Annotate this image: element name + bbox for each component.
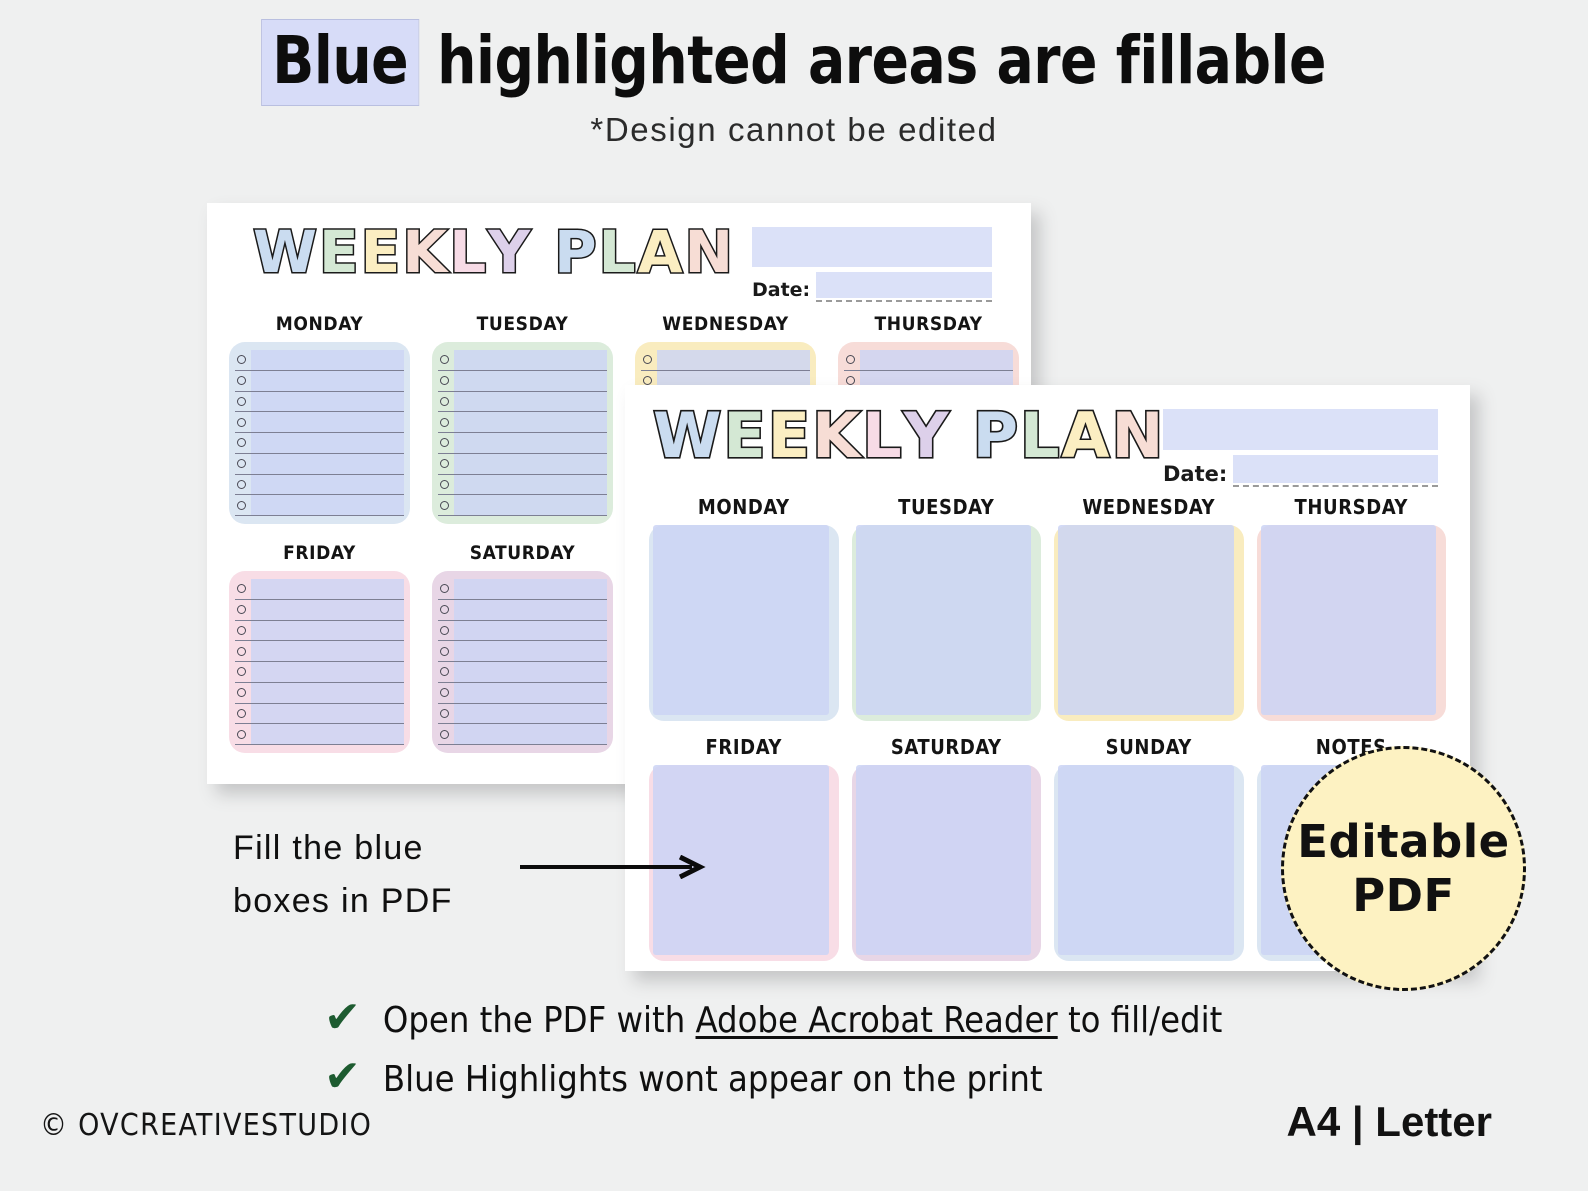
task-fill-box[interactable] [251, 704, 404, 724]
checkbox-circle-icon[interactable] [440, 647, 449, 656]
checkbox-circle-icon[interactable] [440, 584, 449, 593]
task-fill-box[interactable] [251, 683, 404, 703]
task-fill-box[interactable] [251, 454, 404, 474]
day-column-saturday: SATURDAY [432, 542, 613, 753]
annotation-line-2: boxes in PDF [233, 875, 563, 928]
task-fill-box[interactable] [251, 662, 404, 682]
paper-size-label: A4 | Letter [1287, 1098, 1492, 1146]
task-line [438, 495, 607, 516]
task-fill-box[interactable] [251, 621, 404, 641]
checkbox-circle-icon[interactable] [440, 626, 449, 635]
title-letter-l-7: L [1020, 407, 1062, 466]
check-icon: ✔ [324, 1055, 361, 1099]
annotation-arrow-icon [520, 855, 710, 879]
task-line [438, 475, 607, 496]
title-space [532, 225, 554, 280]
title-letter-k-3: K [402, 225, 449, 280]
weekly-plan-title-front: WEEKLY PLAN [653, 407, 1165, 466]
task-line [235, 641, 404, 662]
checkbox-circle-icon[interactable] [643, 355, 652, 364]
task-fill-box[interactable] [454, 350, 607, 370]
title-letter-w-0: W [253, 225, 319, 280]
date-fill-box[interactable] [816, 272, 992, 298]
title-letter-a-8: A [1062, 407, 1112, 466]
task-fill-box[interactable] [454, 724, 607, 744]
task-line [235, 495, 404, 516]
task-fill-box[interactable] [454, 433, 607, 453]
checkbox-circle-icon[interactable] [237, 376, 246, 385]
task-line [438, 350, 607, 371]
day-fill-box-wednesday[interactable] [1058, 525, 1234, 715]
title-letter-l-4: L [862, 407, 904, 466]
task-fill-box[interactable] [454, 454, 607, 474]
weekly-plan-title-back: WEEKLY PLAN [253, 225, 735, 280]
checkbox-circle-icon[interactable] [237, 438, 246, 447]
title-letter-p-6: P [973, 407, 1020, 466]
day-label-saturday: SATURDAY [432, 542, 613, 564]
day-pad-saturday [852, 765, 1042, 961]
day-label-tuesday: TUESDAY [852, 495, 1042, 519]
day-pad-tuesday [432, 342, 613, 524]
day-pad-sunday [1054, 765, 1244, 961]
checkbox-circle-icon[interactable] [440, 480, 449, 489]
checkbox-circle-icon[interactable] [237, 501, 246, 510]
checkbox-circle-icon[interactable] [237, 459, 246, 468]
title-letter-w-0: W [653, 407, 723, 466]
checklist-item: ✔Open the PDF with Adobe Acrobat Reader … [324, 996, 1222, 1041]
day-fill-box-sunday[interactable] [1058, 765, 1234, 955]
task-line [438, 683, 607, 704]
title-letter-l-4: L [449, 225, 488, 280]
title-letter-e-2: E [361, 225, 403, 280]
checkbox-circle-icon[interactable] [440, 397, 449, 406]
task-line [235, 600, 404, 621]
checkbox-circle-icon[interactable] [440, 667, 449, 676]
day-column-friday: FRIDAY [649, 735, 839, 961]
task-line [235, 433, 404, 454]
checkbox-circle-icon[interactable] [846, 355, 855, 364]
task-fill-box[interactable] [454, 579, 607, 599]
task-fill-box[interactable] [251, 350, 404, 370]
task-line [438, 433, 607, 454]
day-column-wednesday: WEDNESDAY [1054, 495, 1244, 721]
task-fill-box[interactable] [657, 350, 810, 370]
task-line [438, 704, 607, 725]
day-column-monday: MONDAY [649, 495, 839, 721]
day-column-tuesday: TUESDAY [852, 495, 1042, 721]
date-label: Date: [1163, 464, 1227, 487]
checkbox-circle-icon[interactable] [237, 584, 246, 593]
checkbox-circle-icon[interactable] [440, 438, 449, 447]
copyright-notice: © OVCREATIVESTUDIO [40, 1108, 372, 1143]
task-line [438, 412, 607, 433]
title-letter-e-1: E [723, 407, 767, 466]
checkbox-circle-icon[interactable] [846, 376, 855, 385]
task-fill-box[interactable] [454, 641, 607, 661]
title-fill-box[interactable] [752, 227, 992, 267]
date-dashed-rule [816, 300, 992, 302]
task-line [235, 392, 404, 413]
task-fill-box[interactable] [251, 579, 404, 599]
checkbox-circle-icon[interactable] [237, 418, 246, 427]
day-label-sunday: SUNDAY [1054, 735, 1244, 759]
day-label-monday: MONDAY [649, 495, 839, 519]
task-fill-box[interactable] [251, 641, 404, 661]
checkbox-circle-icon[interactable] [440, 605, 449, 614]
task-fill-box[interactable] [251, 433, 404, 453]
badge-line-1: Editable [1297, 815, 1509, 868]
highlight-word: Blue [262, 20, 418, 105]
page-title: Blue highlighted areas are fillable [56, 22, 1533, 99]
day-label-tuesday: TUESDAY [432, 313, 613, 335]
title-letter-k-3: K [812, 407, 862, 466]
day-label-thursday: THURSDAY [838, 313, 1019, 335]
checkbox-circle-icon[interactable] [440, 501, 449, 510]
day-column-saturday: SATURDAY [852, 735, 1042, 961]
date-block-back: Date: [752, 227, 992, 302]
day-column-friday: FRIDAY [229, 542, 410, 753]
checkbox-circle-icon[interactable] [237, 626, 246, 635]
page-title-rest: highlighted areas are fillable [437, 22, 1326, 99]
task-line [438, 724, 607, 745]
line-stack [235, 579, 404, 745]
checklist-item: ✔Blue Highlights wont appear on the prin… [324, 1055, 1222, 1100]
task-fill-box[interactable] [251, 495, 404, 515]
title-letter-n-9: N [1112, 407, 1166, 466]
day-label-saturday: SATURDAY [852, 735, 1042, 759]
day-pad-friday [229, 571, 410, 753]
day-label-monday: MONDAY [229, 313, 410, 335]
date-block-front: Date: [1163, 409, 1438, 487]
task-line [438, 662, 607, 683]
checkbox-circle-icon[interactable] [237, 647, 246, 656]
checklist-text: Open the PDF with Adobe Acrobat Reader t… [383, 1000, 1222, 1041]
task-fill-box[interactable] [251, 475, 404, 495]
annotation-line-1: Fill the blue [233, 822, 563, 875]
task-fill-box[interactable] [454, 600, 607, 620]
line-stack [438, 579, 607, 745]
task-fill-box[interactable] [251, 392, 404, 412]
checkbox-circle-icon[interactable] [237, 397, 246, 406]
day-fill-box-monday[interactable] [653, 525, 829, 715]
task-line [235, 621, 404, 642]
annotation-text: Fill the blue boxes in PDF [233, 822, 563, 927]
task-fill-box[interactable] [251, 412, 404, 432]
day-column-tuesday: TUESDAY [432, 313, 613, 524]
checkbox-circle-icon[interactable] [237, 605, 246, 614]
task-fill-box[interactable] [454, 495, 607, 515]
title-space [951, 407, 973, 466]
day-pad-thursday [1257, 525, 1447, 721]
task-fill-box[interactable] [454, 704, 607, 724]
title-letter-e-2: E [768, 407, 812, 466]
task-fill-box[interactable] [454, 662, 607, 682]
day-label-thursday: THURSDAY [1257, 495, 1447, 519]
task-line [438, 641, 607, 662]
task-line [235, 704, 404, 725]
editable-pdf-badge: Editable PDF [1281, 746, 1526, 991]
title-letter-p-6: P [554, 225, 599, 280]
checkbox-circle-icon[interactable] [643, 376, 652, 385]
day-pad-tuesday [852, 525, 1042, 721]
task-line [235, 724, 404, 745]
checkbox-circle-icon[interactable] [237, 730, 246, 739]
checkbox-circle-icon[interactable] [237, 355, 246, 364]
day-pad-wednesday [1054, 525, 1244, 721]
task-fill-box[interactable] [454, 412, 607, 432]
day-label-wednesday: WEDNESDAY [635, 313, 816, 335]
task-line [235, 475, 404, 496]
day-column-sunday: SUNDAY [1054, 735, 1244, 961]
header: Blue highlighted areas are fillable *Des… [0, 0, 1588, 149]
task-line [438, 454, 607, 475]
checklist-text: Blue Highlights wont appear on the print [383, 1059, 1043, 1100]
checkbox-circle-icon[interactable] [237, 667, 246, 676]
checkbox-circle-icon[interactable] [440, 355, 449, 364]
day-column-thursday: THURSDAY [1257, 495, 1447, 721]
title-letter-y-5: Y [488, 225, 532, 280]
acrobat-reader-link[interactable]: Adobe Acrobat Reader [696, 1000, 1058, 1041]
day-fill-box-tuesday[interactable] [856, 525, 1032, 715]
line-stack [235, 350, 404, 516]
task-line [438, 371, 607, 392]
task-fill-box[interactable] [454, 371, 607, 391]
date-fill-box[interactable] [1233, 455, 1438, 483]
task-fill-box[interactable] [454, 683, 607, 703]
day-fill-box-saturday[interactable] [856, 765, 1032, 955]
title-fill-box[interactable] [1163, 409, 1438, 450]
day-pad-monday [649, 525, 839, 721]
task-fill-box[interactable] [860, 350, 1013, 370]
task-line [844, 350, 1013, 371]
checkbox-circle-icon[interactable] [440, 709, 449, 718]
task-fill-box[interactable] [454, 621, 607, 641]
task-fill-box[interactable] [251, 600, 404, 620]
task-fill-box[interactable] [251, 371, 404, 391]
title-letter-a-8: A [638, 225, 685, 280]
checkbox-circle-icon[interactable] [440, 730, 449, 739]
task-line [235, 350, 404, 371]
task-line [235, 579, 404, 600]
day-label-friday: FRIDAY [229, 542, 410, 564]
task-line [235, 662, 404, 683]
day-pad-monday [229, 342, 410, 524]
checkbox-circle-icon[interactable] [237, 480, 246, 489]
line-stack [438, 350, 607, 516]
footer-checklist: ✔Open the PDF with Adobe Acrobat Reader … [324, 996, 1222, 1114]
title-letter-y-5: Y [904, 407, 951, 466]
day-pad-saturday [432, 571, 613, 753]
page-subtitle: *Design cannot be edited [0, 111, 1588, 149]
task-fill-box[interactable] [454, 475, 607, 495]
checkbox-circle-icon[interactable] [440, 376, 449, 385]
day-fill-box-thursday[interactable] [1261, 525, 1437, 715]
task-line [235, 454, 404, 475]
checkbox-circle-icon[interactable] [440, 418, 449, 427]
badge-line-2: PDF [1352, 869, 1455, 922]
date-label: Date: [752, 281, 810, 302]
task-line [438, 600, 607, 621]
day-column-monday: MONDAY [229, 313, 410, 524]
task-line [438, 392, 607, 413]
task-line [235, 371, 404, 392]
task-line [438, 621, 607, 642]
task-fill-box[interactable] [251, 724, 404, 744]
task-line [235, 683, 404, 704]
day-label-friday: FRIDAY [649, 735, 839, 759]
checkbox-circle-icon[interactable] [237, 688, 246, 697]
task-line [438, 579, 607, 600]
checkbox-circle-icon[interactable] [440, 688, 449, 697]
task-line [235, 412, 404, 433]
day-row: MONDAYTUESDAYWEDNESDAYTHURSDAY [649, 495, 1446, 721]
task-line [641, 350, 810, 371]
title-letter-e-1: E [319, 225, 361, 280]
title-letter-n-9: N [685, 225, 736, 280]
day-label-wednesday: WEDNESDAY [1054, 495, 1244, 519]
check-icon: ✔ [324, 996, 361, 1040]
date-dashed-rule [1233, 485, 1438, 487]
checkbox-circle-icon[interactable] [440, 459, 449, 468]
task-fill-box[interactable] [454, 392, 607, 412]
title-letter-l-7: L [599, 225, 638, 280]
checkbox-circle-icon[interactable] [237, 709, 246, 718]
